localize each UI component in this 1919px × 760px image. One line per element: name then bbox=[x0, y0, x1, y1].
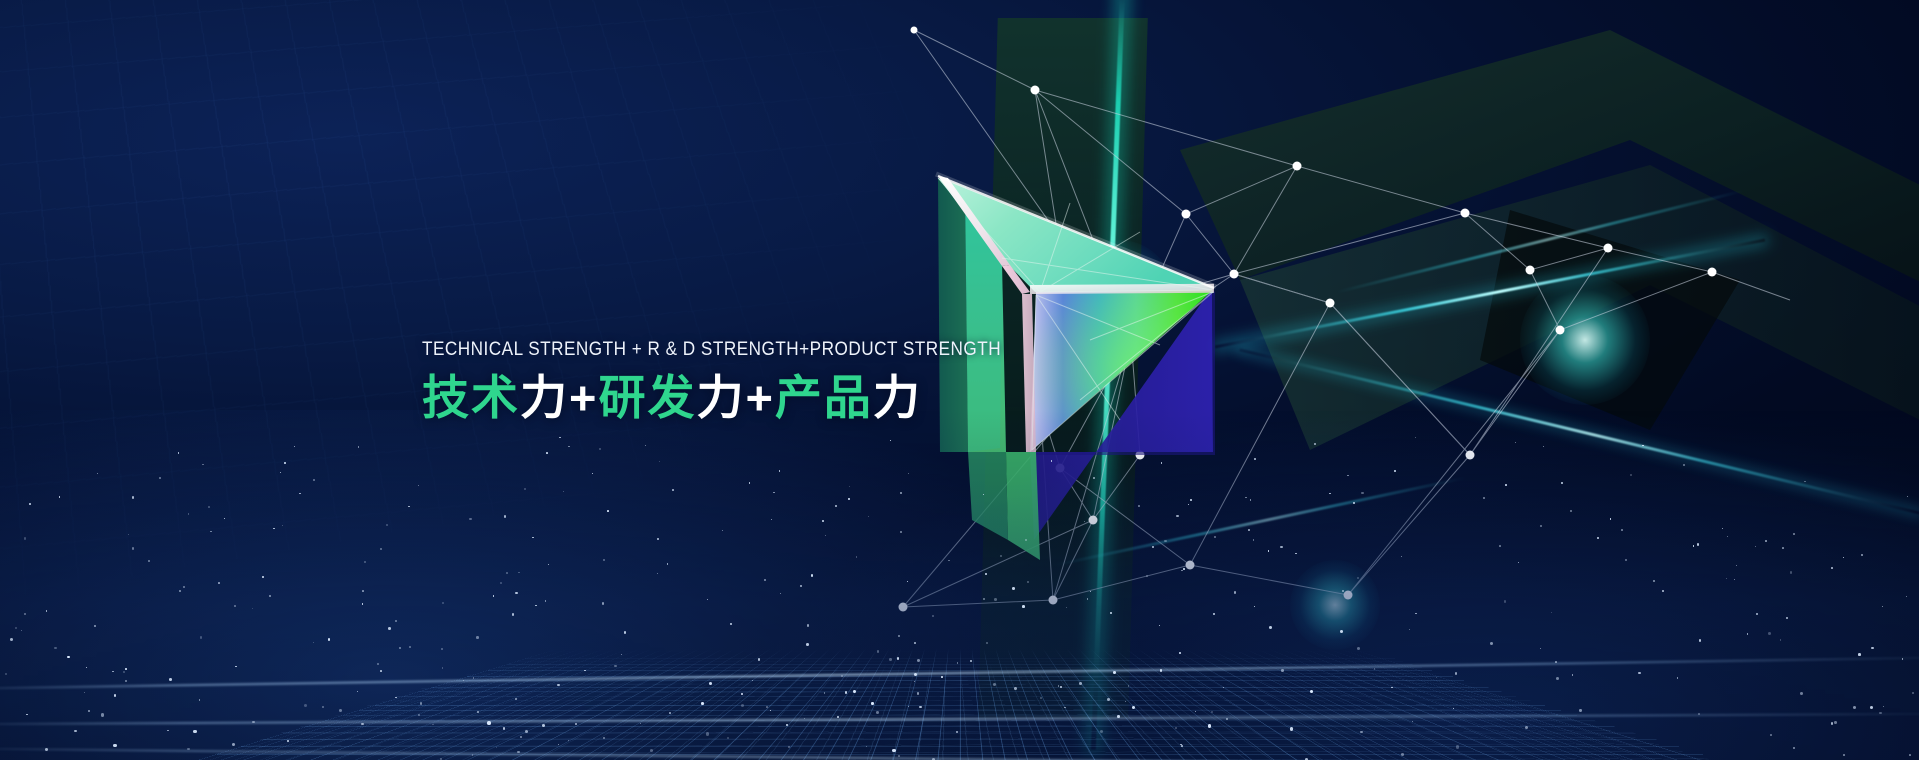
headline-chinese-segment-2: + bbox=[569, 371, 598, 424]
headline-chinese-segment-5: + bbox=[745, 371, 774, 424]
headline-chinese: 技术力+研发力+产品力 bbox=[422, 373, 1080, 422]
headline-chinese-segment-3: 研发 bbox=[598, 371, 696, 424]
headline-chinese-segment-6: 产品 bbox=[775, 371, 873, 424]
headline-block: TECHNICAL STRENGTH + R & D STRENGTH+PROD… bbox=[422, 340, 1080, 422]
headline-chinese-segment-4: 力 bbox=[696, 371, 745, 424]
banner-stage: TECHNICAL STRENGTH + R & D STRENGTH+PROD… bbox=[0, 0, 1919, 760]
headline-chinese-segment-0: 技术 bbox=[422, 371, 520, 424]
headline-chinese-segment-7: 力 bbox=[873, 371, 922, 424]
headline-chinese-segment-1: 力 bbox=[520, 371, 569, 424]
headline-english: TECHNICAL STRENGTH + R & D STRENGTH+PROD… bbox=[422, 340, 1001, 360]
